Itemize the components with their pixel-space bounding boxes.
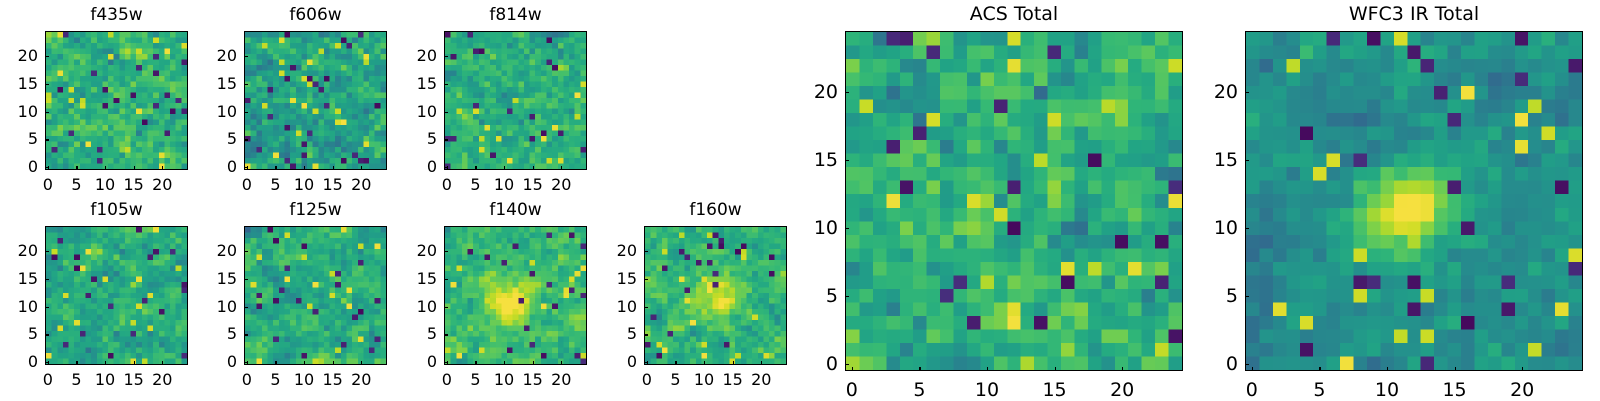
xtick-mark (919, 367, 920, 371)
ytick-mark (644, 279, 648, 280)
ytick-mark (45, 167, 49, 168)
ytick-mark (244, 251, 248, 252)
ytick-label: 15 (192, 76, 237, 92)
xtick-label: 0 (1227, 381, 1277, 400)
ytick-label: 20 (0, 48, 38, 64)
ytick-mark (444, 167, 448, 168)
ytick-label: 20 (592, 243, 637, 259)
panel-title-f606w: f606w (244, 7, 387, 24)
ytick-mark (45, 139, 49, 140)
ytick-label: 15 (793, 151, 838, 170)
ytick-label: 10 (1193, 219, 1238, 238)
xtick-mark (76, 361, 77, 365)
xtick-mark (504, 361, 505, 365)
ytick-label: 10 (0, 299, 38, 315)
panel-title-f435w: f435w (45, 7, 188, 24)
heatmap-canvas-f140w (445, 227, 586, 364)
ytick-label: 15 (592, 271, 637, 287)
heatmap-canvas-f160w (645, 227, 786, 364)
ytick-mark (1245, 364, 1249, 365)
ytick-mark (845, 228, 849, 229)
xtick-mark (1387, 367, 1388, 371)
ytick-mark (845, 92, 849, 93)
ytick-label: 0 (592, 354, 637, 370)
xtick-mark (1122, 367, 1123, 371)
ytick-mark (444, 362, 448, 363)
xtick-label: 20 (336, 177, 386, 193)
xtick-label: 20 (137, 372, 187, 388)
ytick-label: 10 (793, 219, 838, 238)
ytick-mark (244, 307, 248, 308)
ytick-label: 0 (1193, 355, 1238, 374)
heatmap-f606w (244, 31, 387, 170)
ytick-label: 10 (192, 299, 237, 315)
ytick-mark (244, 334, 248, 335)
xtick-mark (275, 166, 276, 170)
xtick-mark (533, 361, 534, 365)
xtick-mark (105, 166, 106, 170)
ytick-mark (1245, 92, 1249, 93)
xtick-label: 20 (736, 372, 786, 388)
ytick-label: 10 (0, 104, 38, 120)
xtick-mark (304, 361, 305, 365)
xtick-mark (333, 166, 334, 170)
heatmap-wfc3-ir-total (1245, 31, 1583, 371)
heatmap-f160w (644, 226, 787, 365)
ytick-mark (1245, 228, 1249, 229)
heatmap-canvas-wfc3-ir-total (1246, 32, 1582, 370)
ytick-mark (845, 160, 849, 161)
heatmap-f140w (444, 226, 587, 365)
xtick-mark (761, 361, 762, 365)
ytick-mark (644, 307, 648, 308)
xtick-mark (134, 361, 135, 365)
ytick-label: 5 (1193, 287, 1238, 306)
xtick-label: 10 (962, 381, 1012, 400)
ytick-mark (45, 362, 49, 363)
ytick-label: 15 (392, 271, 437, 287)
ytick-mark (45, 279, 49, 280)
ytick-mark (644, 334, 648, 335)
ytick-label: 5 (192, 326, 237, 342)
xtick-mark (134, 166, 135, 170)
panel-title-wfc3-ir-total: WFC3 IR Total (1245, 5, 1583, 24)
heatmap-f814w (444, 31, 587, 170)
xtick-label: 20 (1497, 381, 1547, 400)
xtick-mark (76, 166, 77, 170)
ytick-mark (244, 362, 248, 363)
xtick-label: 20 (1097, 381, 1147, 400)
ytick-mark (244, 84, 248, 85)
ytick-label: 20 (392, 48, 437, 64)
xtick-label: 15 (1030, 381, 1080, 400)
xtick-label: 15 (1430, 381, 1480, 400)
ytick-label: 10 (192, 104, 237, 120)
ytick-mark (444, 279, 448, 280)
ytick-mark (644, 362, 648, 363)
heatmap-canvas-f606w (245, 32, 386, 169)
ytick-label: 5 (592, 326, 637, 342)
ytick-label: 5 (0, 131, 38, 147)
ytick-mark (45, 84, 49, 85)
panel-title-f140w: f140w (444, 202, 587, 219)
ytick-mark (244, 279, 248, 280)
xtick-mark (561, 361, 562, 365)
ytick-label: 0 (392, 159, 437, 175)
heatmap-canvas-acs-total (846, 32, 1182, 370)
ytick-label: 20 (793, 83, 838, 102)
ytick-mark (244, 56, 248, 57)
ytick-label: 20 (192, 243, 237, 259)
ytick-label: 0 (192, 354, 237, 370)
ytick-label: 0 (192, 159, 237, 175)
xtick-mark (733, 361, 734, 365)
ytick-mark (444, 251, 448, 252)
xtick-label: 0 (827, 381, 877, 400)
xtick-mark (304, 166, 305, 170)
panel-title-f125w: f125w (244, 202, 387, 219)
ytick-mark (444, 84, 448, 85)
xtick-label: 20 (336, 372, 386, 388)
ytick-mark (244, 112, 248, 113)
xtick-mark (1055, 367, 1056, 371)
ytick-mark (45, 56, 49, 57)
ytick-label: 20 (192, 48, 237, 64)
xtick-mark (533, 166, 534, 170)
ytick-label: 5 (392, 131, 437, 147)
xtick-mark (105, 361, 106, 365)
ytick-label: 0 (0, 354, 38, 370)
panel-title-acs-total: ACS Total (845, 5, 1183, 24)
xtick-mark (504, 166, 505, 170)
ytick-label: 0 (0, 159, 38, 175)
ytick-mark (45, 307, 49, 308)
xtick-mark (361, 361, 362, 365)
ytick-label: 5 (392, 326, 437, 342)
xtick-mark (1455, 367, 1456, 371)
xtick-mark (1319, 367, 1320, 371)
ytick-label: 0 (793, 355, 838, 374)
heatmap-f125w (244, 226, 387, 365)
ytick-label: 15 (1193, 151, 1238, 170)
ytick-mark (444, 112, 448, 113)
ytick-label: 5 (0, 326, 38, 342)
ytick-mark (45, 112, 49, 113)
heatmap-f105w (45, 226, 188, 365)
heatmap-canvas-f435w (46, 32, 187, 169)
ytick-mark (244, 167, 248, 168)
xtick-label: 5 (1294, 381, 1344, 400)
xtick-mark (704, 361, 705, 365)
ytick-label: 20 (1193, 83, 1238, 102)
ytick-mark (45, 334, 49, 335)
ytick-mark (244, 139, 248, 140)
xtick-mark (162, 361, 163, 365)
panel-title-f105w: f105w (45, 202, 188, 219)
ytick-label: 20 (392, 243, 437, 259)
xtick-label: 10 (1362, 381, 1412, 400)
ytick-mark (444, 56, 448, 57)
heatmap-canvas-f814w (445, 32, 586, 169)
ytick-label: 10 (392, 104, 437, 120)
heatmap-f435w (45, 31, 188, 170)
xtick-mark (333, 361, 334, 365)
ytick-mark (1245, 296, 1249, 297)
xtick-mark (275, 361, 276, 365)
xtick-mark (1522, 367, 1523, 371)
xtick-mark (561, 166, 562, 170)
ytick-label: 15 (192, 271, 237, 287)
heatmap-canvas-f105w (46, 227, 187, 364)
ytick-mark (444, 139, 448, 140)
heatmap-acs-total (845, 31, 1183, 371)
ytick-label: 15 (392, 76, 437, 92)
ytick-mark (644, 251, 648, 252)
ytick-label: 10 (592, 299, 637, 315)
xtick-mark (475, 361, 476, 365)
ytick-label: 10 (392, 299, 437, 315)
xtick-mark (162, 166, 163, 170)
xtick-label: 5 (894, 381, 944, 400)
ytick-mark (845, 364, 849, 365)
ytick-label: 20 (0, 243, 38, 259)
xtick-mark (1252, 367, 1253, 371)
xtick-mark (475, 166, 476, 170)
xtick-mark (987, 367, 988, 371)
xtick-mark (361, 166, 362, 170)
panel-title-f160w: f160w (644, 202, 787, 219)
ytick-mark (444, 334, 448, 335)
xtick-label: 20 (536, 177, 586, 193)
panel-title-f814w: f814w (444, 7, 587, 24)
xtick-label: 20 (536, 372, 586, 388)
ytick-label: 0 (392, 354, 437, 370)
heatmap-canvas-f125w (245, 227, 386, 364)
xtick-mark (675, 361, 676, 365)
ytick-mark (1245, 160, 1249, 161)
ytick-mark (845, 296, 849, 297)
ytick-label: 5 (793, 287, 838, 306)
xtick-mark (852, 367, 853, 371)
xtick-label: 20 (137, 177, 187, 193)
ytick-label: 15 (0, 271, 38, 287)
ytick-mark (45, 251, 49, 252)
ytick-mark (444, 307, 448, 308)
ytick-label: 5 (192, 131, 237, 147)
ytick-label: 15 (0, 76, 38, 92)
